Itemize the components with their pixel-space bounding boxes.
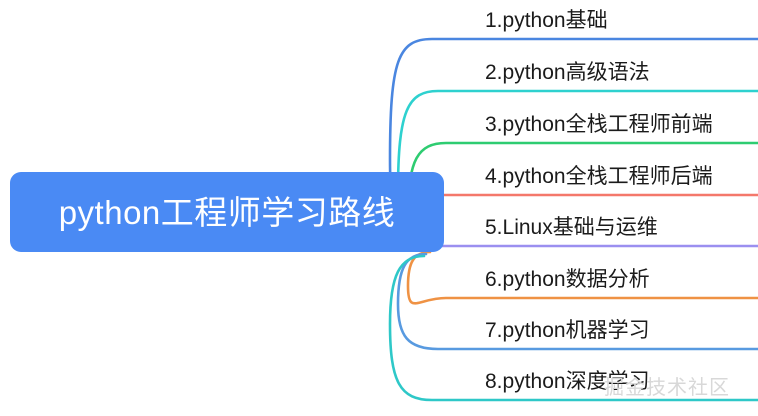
branch-label-2[interactable]: 2.python高级语法 [485, 62, 650, 83]
branch-label-7[interactable]: 7.python机器学习 [485, 320, 650, 341]
branch-label-5[interactable]: 5.Linux基础与运维 [485, 217, 658, 238]
branch-label-4[interactable]: 4.python全栈工程师后端 [485, 166, 713, 187]
root-node[interactable]: python工程师学习路线 [10, 172, 444, 252]
branch-label-8[interactable]: 8.python深度学习 [485, 371, 650, 392]
branch-label-6[interactable]: 6.python数据分析 [485, 269, 650, 290]
branch-label-3[interactable]: 3.python全栈工程师前端 [485, 114, 713, 135]
branch-label-1[interactable]: 1.python基础 [485, 10, 608, 31]
root-node-label: python工程师学习路线 [59, 196, 396, 229]
